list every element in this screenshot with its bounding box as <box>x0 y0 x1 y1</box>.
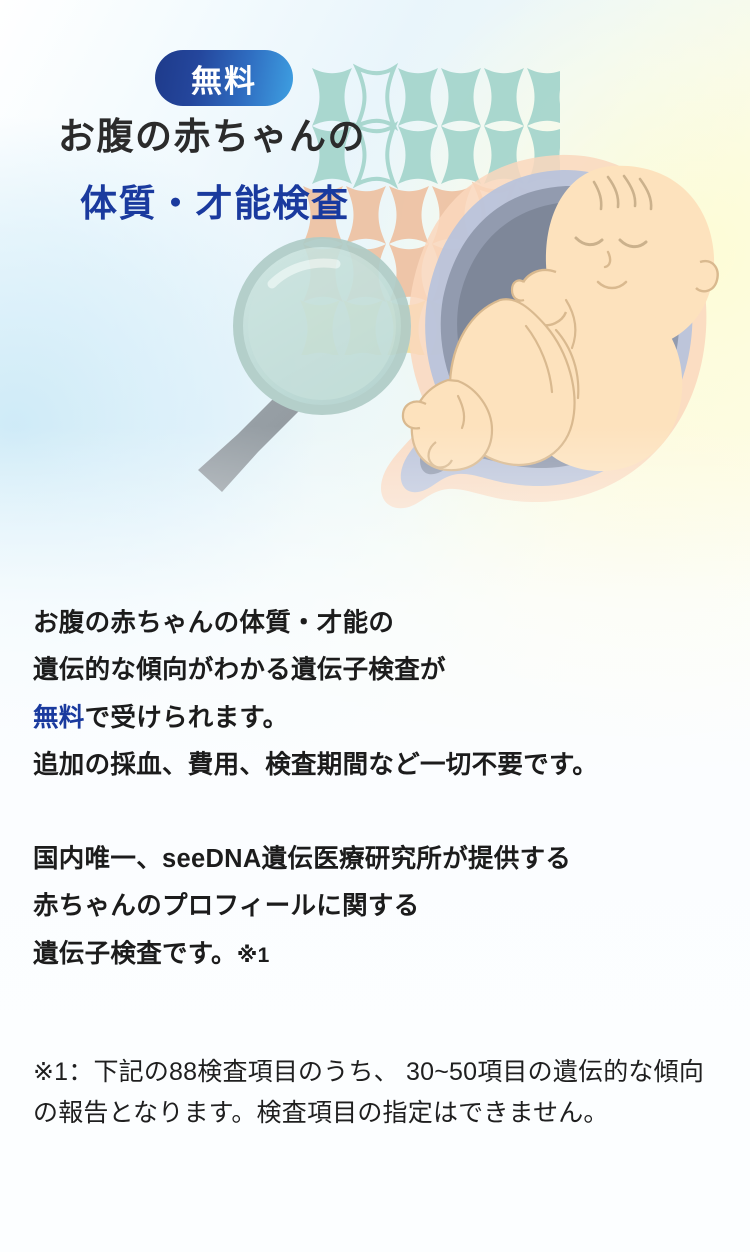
paragraph-two-line-2: 赤ちゃんのプロフィールに関する <box>33 892 420 920</box>
body-copy: お腹の赤ちゃんの体質・才能の 遺伝的な傾向がわかる遺伝子検査が 無料で受けられま… <box>33 600 723 978</box>
footnote-reference-marker: ※1 <box>237 944 270 967</box>
footnote-text: ※1：下記の88検査項目のうち、 30~50項目の遺伝的な傾向の報告となります。… <box>33 1052 728 1133</box>
paragraph-two-line-1: 国内唯一、seeDNA遺伝医療研究所が提供する <box>33 845 571 873</box>
paragraph-one-line-1: お腹の赤ちゃんの体質・才能の <box>33 609 394 637</box>
magnifier-icon <box>198 242 406 492</box>
page-title: お腹の赤ちゃんの 体質・才能検査 <box>0 118 520 222</box>
page-title-line-2: 体質・才能検査 <box>80 185 520 222</box>
paragraph-one-line-3-rest: で受けられます。 <box>85 704 289 732</box>
paragraph-one: お腹の赤ちゃんの体質・才能の 遺伝的な傾向がわかる遺伝子検査が 無料で受けられま… <box>33 600 723 790</box>
free-highlight: 無料 <box>33 704 85 732</box>
paragraph-one-line-4: 追加の採血、費用、検査期間など一切不要です。 <box>33 751 598 779</box>
page-title-line-1: お腹の赤ちゃんの <box>58 118 520 155</box>
hero-illustration <box>0 0 750 540</box>
paragraph-two: 国内唯一、seeDNA遺伝医療研究所が提供する 赤ちゃんのプロフィールに関する … <box>33 836 723 978</box>
free-badge: 無料 <box>155 50 293 106</box>
paragraph-one-line-2: 遺伝的な傾向がわかる遺伝子検査が <box>33 656 446 684</box>
paragraph-two-line-3: 遺伝子検査です。 <box>33 940 237 968</box>
promo-page: 無料 お腹の赤ちゃんの 体質・才能検査 お腹の赤ちゃんの体質・才能の 遺伝的な傾… <box>0 0 750 1252</box>
